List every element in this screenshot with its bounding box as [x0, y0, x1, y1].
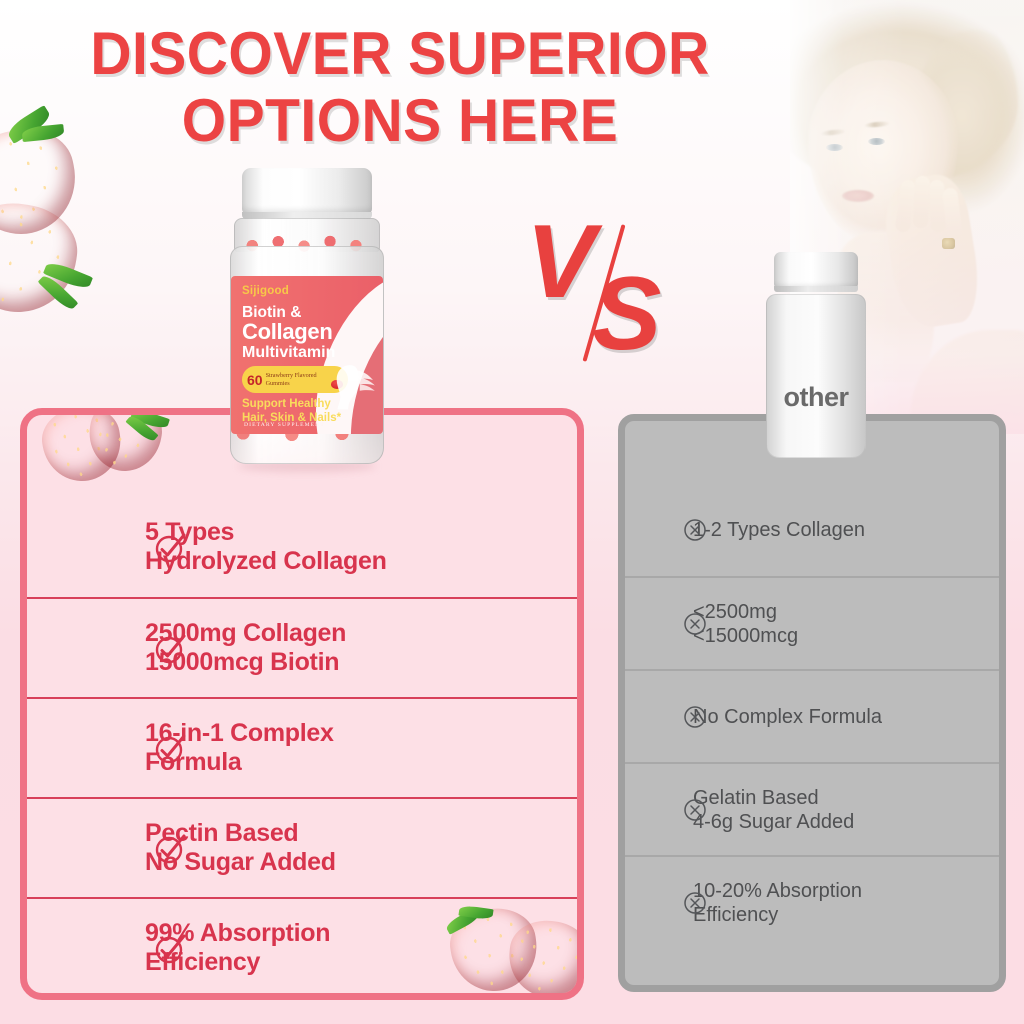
vs-letter-v: V [526, 210, 595, 314]
brand-name: Sijigood [242, 285, 289, 297]
check-circle-icon [153, 731, 187, 765]
bottle-cap [242, 168, 372, 214]
competitor-bottle-cap-rim [774, 286, 858, 292]
badge-flavor-line-1: Strawberry Flavored [266, 372, 317, 379]
list-item-label: Gelatin Based 4-6g Sugar Added [693, 786, 854, 834]
badge-count: 60 [247, 373, 263, 387]
list-item: <2500mg <15000mcg [625, 576, 999, 669]
vs-graphic: V S [520, 210, 690, 380]
competitor-bottle-label: other [762, 382, 870, 413]
x-circle-icon [683, 612, 707, 636]
competitor-bottle: other [762, 252, 870, 462]
label-title-line-3: Multivitamin [242, 344, 335, 362]
headline-line-1: DISCOVER SUPERIOR [90, 20, 709, 87]
x-circle-icon [683, 798, 707, 822]
our-feature-list: 5 Types Hydrolyzed Collagen 2500mg Colla… [27, 497, 577, 993]
list-item: 2500mg Collagen 15000mcg Biotin [27, 597, 577, 697]
check-circle-icon [153, 831, 187, 865]
x-circle-icon [683, 705, 707, 729]
list-item-label: 1-2 Types Collagen [693, 518, 865, 542]
competitor-bottle-cap [774, 252, 858, 288]
list-item-label: No Complex Formula [693, 705, 882, 729]
list-item: 16-in-1 Complex Formula [27, 697, 577, 797]
competitor-panel: 1-2 Types Collagen <2500mg <15000mcg No … [618, 414, 1006, 992]
bottle-label: Sijigood Biotin & Collagen Multivitamin … [231, 276, 383, 434]
vs-letter-s: S [592, 262, 661, 366]
list-item: 1-2 Types Collagen [625, 483, 999, 576]
check-circle-icon [153, 631, 187, 665]
check-circle-icon [153, 931, 187, 965]
headline-line-2: OPTIONS HERE [20, 91, 780, 151]
woman-hair-icon [323, 358, 377, 420]
dietary-supplement-text: DIETARY SUPPLEMENT [244, 422, 325, 428]
list-item: No Complex Formula [625, 669, 999, 762]
list-item: 5 Types Hydrolyzed Collagen [27, 497, 577, 597]
competitor-feature-list: 1-2 Types Collagen <2500mg <15000mcg No … [625, 483, 999, 985]
check-circle-icon [153, 530, 187, 564]
list-item: Gelatin Based 4-6g Sugar Added [625, 762, 999, 855]
list-item-label: 10-20% Absorption Efficiency [693, 879, 862, 927]
list-item-label: <2500mg <15000mcg [693, 600, 798, 648]
page-title: DISCOVER SUPERIOR OPTIONS HERE [20, 24, 780, 151]
x-circle-icon [683, 518, 707, 542]
competitor-bottle-body [766, 294, 866, 458]
list-item: 10-20% Absorption Efficiency [625, 855, 999, 948]
list-item: 99% Absorption Efficiency [27, 897, 577, 997]
badge-flavor-line-2: Gummies [266, 380, 290, 387]
our-product-panel: 5 Types Hydrolyzed Collagen 2500mg Colla… [20, 408, 584, 1000]
badge-flavor: Strawberry Flavored Gummies [266, 372, 317, 386]
product-bottle: Sijigood Biotin & Collagen Multivitamin … [222, 168, 392, 468]
label-title-line-2: Collagen [242, 319, 333, 345]
list-item: Pectin Based No Sugar Added [27, 797, 577, 897]
x-circle-icon [683, 891, 707, 915]
